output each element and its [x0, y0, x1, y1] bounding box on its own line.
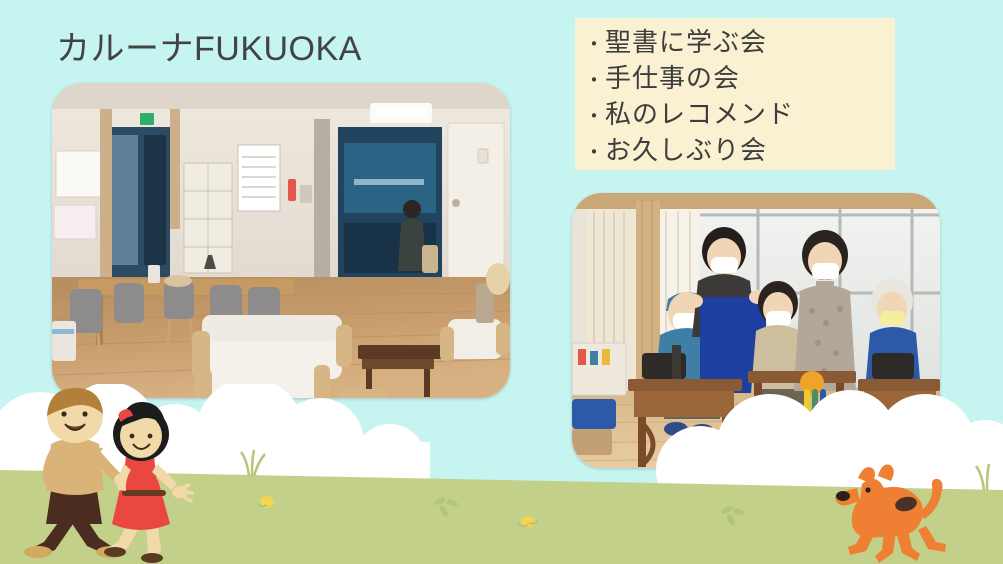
person-4: [794, 230, 856, 391]
bullet-icon: ・: [583, 28, 605, 62]
sewing-group-photo-graphic: [572, 193, 940, 468]
list-item-label: 手仕事の会: [605, 62, 740, 96]
sewing-group-photo: [572, 193, 940, 468]
grass-hill: [0, 470, 1003, 564]
bullet-icon: ・: [583, 136, 605, 170]
list-item: ・ 聖書に学ぶ会: [575, 26, 895, 62]
list-item: ・ お久しぶり会: [575, 134, 895, 170]
leaf-decorations: [433, 496, 745, 527]
page-title: カルーナFUKUOKA: [56, 27, 362, 71]
slide-canvas: カルーナFUKUOKA: [0, 0, 1003, 564]
program-list-box: ・ 聖書に学ぶ会 ・ 手仕事の会 ・ 私のレコメンド ・ お久しぶり会: [575, 18, 895, 170]
list-item-label: お久しぶり会: [605, 134, 767, 168]
bullet-icon: ・: [583, 64, 605, 98]
list-item: ・ 手仕事の会: [575, 62, 895, 98]
walking-girl: [104, 402, 192, 563]
common-room-photo: [52, 83, 510, 398]
running-dog: [835, 464, 946, 563]
list-item-label: 私のレコメンド: [605, 98, 794, 132]
bullet-icon: ・: [583, 100, 605, 134]
flower-decorations: [258, 496, 538, 528]
program-list: ・ 聖書に学ぶ会 ・ 手仕事の会 ・ 私のレコメンド ・ お久しぶり会: [575, 26, 895, 170]
walking-boy: [24, 388, 136, 558]
list-item-label: 聖書に学ぶ会: [605, 26, 767, 60]
common-room-photo-graphic: [52, 83, 510, 398]
list-item: ・ 私のレコメンド: [575, 98, 895, 134]
